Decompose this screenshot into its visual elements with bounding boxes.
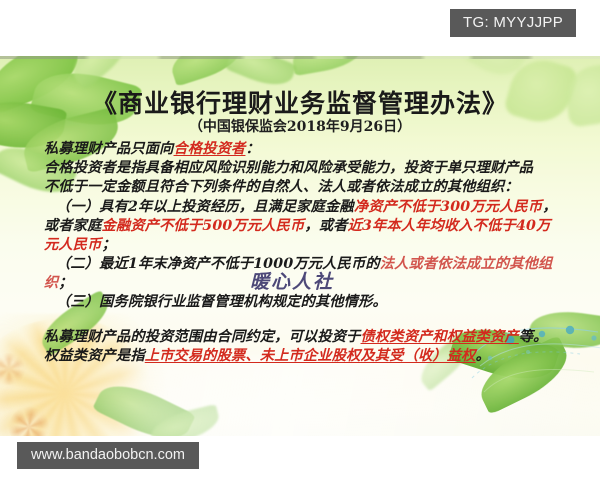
paragraph-intro-line-3: 不低于一定金额且符合下列条件的自然人、法人或者依法成立的其他组织：: [44, 178, 519, 197]
paragraph-item-2-line-2: 织；: [44, 274, 73, 293]
highlight-asset-classes: 债权类资产和权益类资产: [361, 329, 519, 345]
page-subtitle: （中国银保监会2018年9月26日）: [0, 116, 600, 136]
source-url-badge: www.bandaobobcn.com: [17, 442, 199, 469]
poster-image: 《商业银行理财业务监督管理办法》 （中国银保监会2018年9月26日） 私募理财…: [0, 56, 600, 436]
highlight-legal-person: 法人或者依法成立的其他组: [380, 256, 553, 272]
text-segment: 私募理财产品的投资范围由合同约定，可以投资于: [44, 329, 361, 345]
highlight-legal-person-continuation: 织: [44, 275, 58, 291]
telegram-handle-badge: TG: MYYJJPP: [450, 9, 576, 37]
highlight-qualified-investor: 合格投资者: [174, 141, 246, 157]
paragraph-scope-line-2: 权益类资产是指上市交易的股票、未上市企业股权及其受（收）益权。: [44, 347, 490, 366]
paragraph-intro-line-2: 合格投资者是指具备相应风险识别能力和风险承受能力，投资于单只理财产品: [44, 159, 533, 178]
text-segment: 。: [476, 348, 490, 364]
text-segment: ；: [58, 275, 72, 291]
text-segment: 权益类资产是指: [44, 348, 145, 364]
watermark: 暖心人社: [250, 267, 334, 294]
highlight-equity-assets-definition: 上市交易的股票、未上市企业股权及其受（收）益权: [145, 348, 476, 364]
page-title: 《商业银行理财业务监督管理办法》: [0, 84, 600, 120]
text-segment: 私募理财产品只面向: [44, 141, 174, 157]
paragraph-item-1-line-1: （一）具有2年以上投资经历，且满足家庭金融净资产不低于300万元人民币，: [56, 198, 557, 217]
paragraph-item-1-line-2: 或者家庭金融资产不低于500万元人民币，或者近3年本人年均收入不低于40万: [44, 217, 550, 236]
poster-top-edge-strip: [0, 56, 600, 59]
paragraph-item-3-line-1: （三）国务院银行业监督管理机构规定的其他情形。: [56, 293, 387, 312]
text-segment: ，: [542, 199, 556, 215]
highlight-net-assets-3m: 净资产不低于300万元人民币: [354, 199, 542, 215]
text-segment: ，或者: [304, 218, 347, 234]
highlight-annual-income-400k: 近3年本人年均收入不低于40万: [348, 218, 551, 234]
highlight-rmb-continuation: 元人民币: [44, 237, 102, 253]
paragraph-item-1-line-3: 元人民币；: [44, 236, 116, 255]
document-text-content: 《商业银行理财业务监督管理办法》 （中国银保监会2018年9月26日） 私募理财…: [0, 56, 600, 436]
paragraph-intro-line-1: 私募理财产品只面向合格投资者：: [44, 140, 260, 159]
text-segment: ：: [245, 141, 259, 157]
text-segment: 等。: [519, 329, 548, 345]
text-segment: （一）具有2年以上投资经历，且满足家庭金融: [56, 199, 354, 215]
highlight-financial-assets-5m: 金融资产不低于500万元人民币: [102, 218, 305, 234]
text-segment: ；: [102, 237, 116, 253]
text-segment: 或者家庭: [44, 218, 102, 234]
paragraph-scope-line-1: 私募理财产品的投资范围由合同约定，可以投资于债权类资产和权益类资产等。: [44, 328, 548, 347]
